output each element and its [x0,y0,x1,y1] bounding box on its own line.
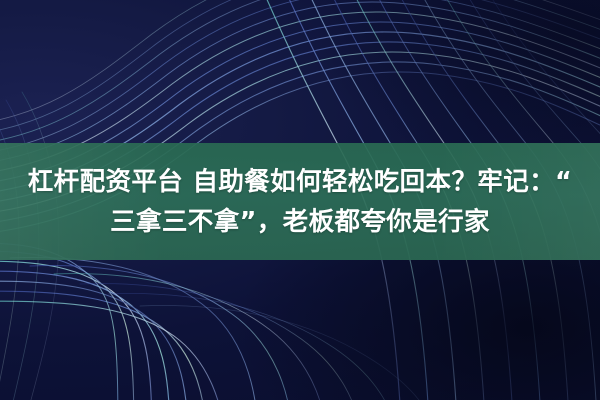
banner-image: 杠杆配资平台 自助餐如何轻松吃回本？牢记：“ 三拿三不拿”，老板都夸你是行家 [0,0,600,400]
headline-line-2: 三拿三不拿”，老板都夸你是行家 [110,202,490,242]
headline-text: 杠杆配资平台 自助餐如何轻松吃回本？牢记：“ 三拿三不拿”，老板都夸你是行家 [0,143,600,260]
headline-line-1: 杠杆配资平台 自助餐如何轻松吃回本？牢记：“ [28,162,572,202]
